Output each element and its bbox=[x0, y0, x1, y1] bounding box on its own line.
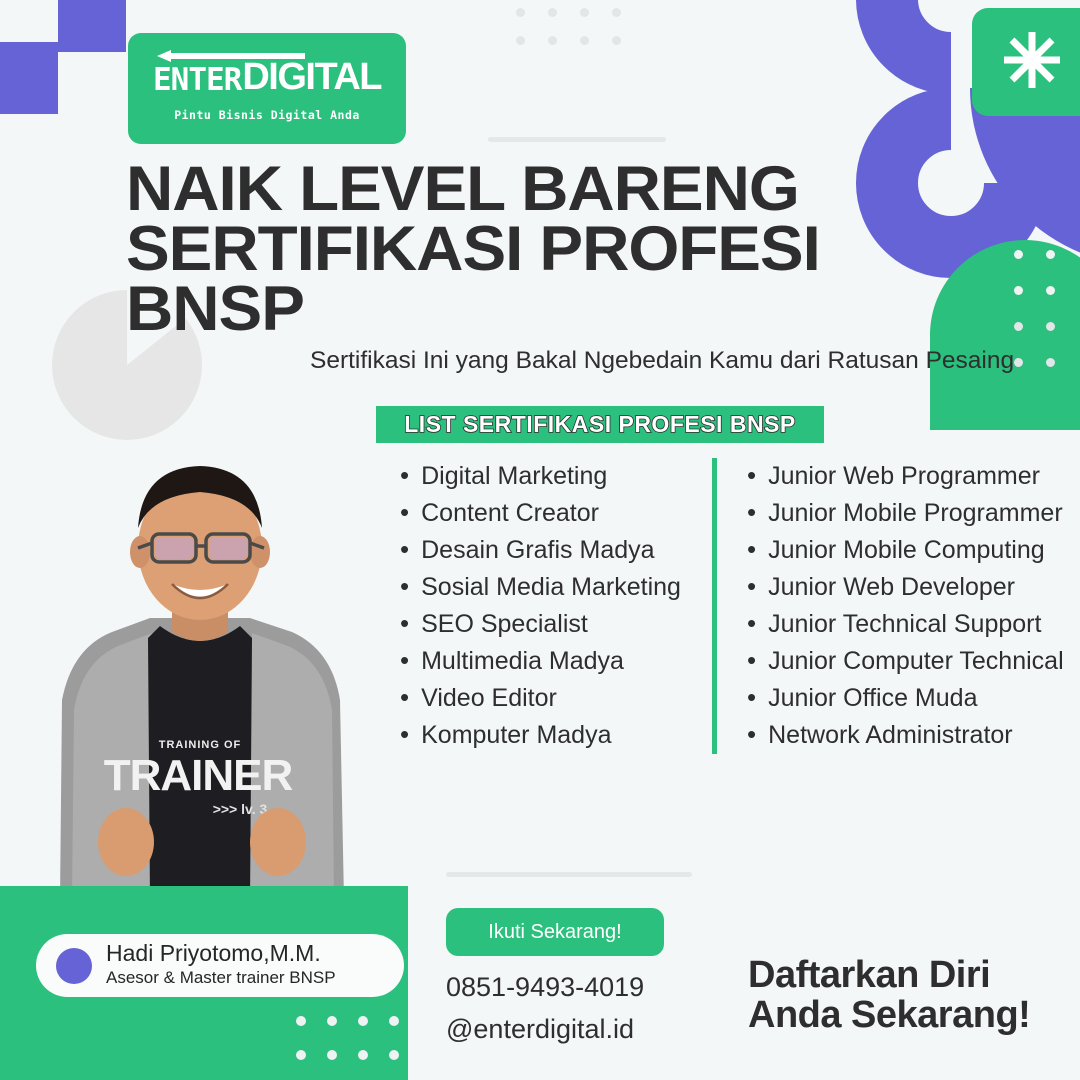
list-item: •Sosial Media Marketing bbox=[400, 569, 712, 606]
list-item-label: Digital Marketing bbox=[421, 458, 607, 495]
list-item-label: Junior Web Programmer bbox=[768, 458, 1040, 495]
svg-text:TRAINER: TRAINER bbox=[104, 751, 293, 800]
list-item: •Content Creator bbox=[400, 495, 712, 532]
list-item-label: Multimedia Madya bbox=[421, 643, 624, 680]
list-item-label: Content Creator bbox=[421, 495, 599, 532]
bullet-icon: • bbox=[400, 684, 409, 710]
brand-logo: ENTER DIGITAL Pintu Bisnis Digital Anda bbox=[128, 33, 406, 144]
avatar bbox=[56, 948, 92, 984]
footer-cta-line-1: Daftarkan Diri bbox=[748, 955, 1078, 995]
list-item-label: Junior Technical Support bbox=[768, 606, 1041, 643]
list-item-label: Sosial Media Marketing bbox=[421, 569, 681, 606]
contact-phone[interactable]: 0851-9493-4019 bbox=[446, 972, 644, 1003]
headline-line-2: SERTIFIKASI PROFESI bbox=[126, 220, 916, 280]
list-item: •Multimedia Madya bbox=[400, 643, 712, 680]
bullet-icon: • bbox=[747, 647, 756, 673]
headline-line-1: NAIK LEVEL BARENG bbox=[126, 160, 916, 220]
logo-wordmark: ENTER DIGITAL bbox=[153, 55, 381, 99]
list-item-label: Junior Mobile Programmer bbox=[768, 495, 1063, 532]
headline-line-3: BNSP bbox=[126, 280, 916, 340]
list-item: •Network Administrator bbox=[747, 717, 1080, 754]
presenter-name-card: Hadi Priyotomo,M.M. Asesor & Master trai… bbox=[36, 934, 404, 997]
svg-text:TRAINING OF: TRAINING OF bbox=[159, 739, 242, 751]
page-subtitle: Sertifikasi Ini yang Bakal Ngebedain Kam… bbox=[310, 348, 1080, 375]
presenter-name: Hadi Priyotomo,M.M. bbox=[106, 941, 336, 966]
bullet-icon: • bbox=[747, 721, 756, 747]
bullet-icon: • bbox=[400, 610, 409, 636]
list-item: •Junior Technical Support bbox=[747, 606, 1080, 643]
list-item: •Desain Grafis Madya bbox=[400, 532, 712, 569]
page-title: NAIK LEVEL BARENG SERTIFIKASI PROFESI BN… bbox=[126, 160, 916, 340]
list-item-label: Junior Mobile Computing bbox=[768, 532, 1045, 569]
logo-tagline: Pintu Bisnis Digital Anda bbox=[174, 108, 360, 122]
list-item-label: Junior Web Developer bbox=[768, 569, 1015, 606]
decor-dot-grid-on-green bbox=[1014, 250, 1078, 322]
footer-call-to-action: Daftarkan Diri Anda Sekarang! bbox=[748, 955, 1078, 1036]
bullet-icon: • bbox=[747, 499, 756, 525]
list-item: •Digital Marketing bbox=[400, 458, 712, 495]
bullet-icon: • bbox=[747, 536, 756, 562]
bullet-icon: • bbox=[400, 462, 409, 488]
list-item: •Komputer Madya bbox=[400, 717, 712, 754]
list-item-label: Network Administrator bbox=[768, 717, 1013, 754]
divider-bottom bbox=[446, 872, 692, 877]
follow-now-button[interactable]: Ikuti Sekarang! bbox=[446, 908, 664, 956]
certification-list: •Digital Marketing •Content Creator •Des… bbox=[400, 458, 1080, 754]
list-item-label: Video Editor bbox=[421, 680, 557, 717]
contact-social-handle[interactable]: @enterdigital.id bbox=[446, 1014, 634, 1045]
list-item-label: SEO Specialist bbox=[421, 606, 588, 643]
poster-canvas: ENTER DIGITAL Pintu Bisnis Digital Anda … bbox=[0, 0, 1080, 1080]
asterisk-icon bbox=[1000, 28, 1064, 92]
footer-cta-line-2: Anda Sekarang! bbox=[748, 995, 1078, 1035]
list-item-label: Junior Computer Technical bbox=[768, 643, 1064, 680]
logo-text-enter: ENTER bbox=[153, 56, 241, 98]
list-item: •Junior Web Programmer bbox=[747, 458, 1080, 495]
presenter-role: Asesor & Master trainer BNSP bbox=[106, 967, 336, 990]
decor-square-purple-top bbox=[58, 0, 126, 52]
list-item: •Junior Computer Technical bbox=[747, 643, 1080, 680]
list-item: •Junior Mobile Computing bbox=[747, 532, 1080, 569]
bullet-icon: • bbox=[747, 610, 756, 636]
bullet-icon: • bbox=[400, 573, 409, 599]
certification-list-left-column: •Digital Marketing •Content Creator •Des… bbox=[400, 458, 712, 754]
decor-square-purple-left bbox=[0, 42, 58, 114]
bullet-icon: • bbox=[747, 462, 756, 488]
decor-dot-grid-footer bbox=[296, 1016, 420, 1080]
decor-dot-grid-top bbox=[516, 8, 644, 64]
list-item: •Video Editor bbox=[400, 680, 712, 717]
bullet-icon: • bbox=[400, 536, 409, 562]
list-item: •Junior Mobile Programmer bbox=[747, 495, 1080, 532]
list-badge-label: LIST SERTIFIKASI PROFESI BNSP bbox=[404, 411, 795, 438]
bullet-icon: • bbox=[747, 684, 756, 710]
bullet-icon: • bbox=[400, 499, 409, 525]
bullet-icon: • bbox=[400, 721, 409, 747]
list-item-label: Desain Grafis Madya bbox=[421, 532, 654, 569]
trainer-photo: TRAINING OF TRAINER >>> lv. 3 bbox=[0, 400, 400, 900]
list-item: •SEO Specialist bbox=[400, 606, 712, 643]
svg-text:>>> lv. 3: >>> lv. 3 bbox=[213, 801, 268, 817]
list-item-label: Junior Office Muda bbox=[768, 680, 977, 717]
divider-top bbox=[488, 137, 666, 142]
list-section-badge: LIST SERTIFIKASI PROFESI BNSP bbox=[376, 406, 824, 443]
list-item: •Junior Web Developer bbox=[747, 569, 1080, 606]
bullet-icon: • bbox=[400, 647, 409, 673]
bullet-icon: • bbox=[747, 573, 756, 599]
list-item: •Junior Office Muda bbox=[747, 680, 1080, 717]
certification-list-right-column: •Junior Web Programmer •Junior Mobile Pr… bbox=[712, 458, 1080, 754]
arrow-left-icon bbox=[157, 50, 305, 62]
list-item-label: Komputer Madya bbox=[421, 717, 611, 754]
